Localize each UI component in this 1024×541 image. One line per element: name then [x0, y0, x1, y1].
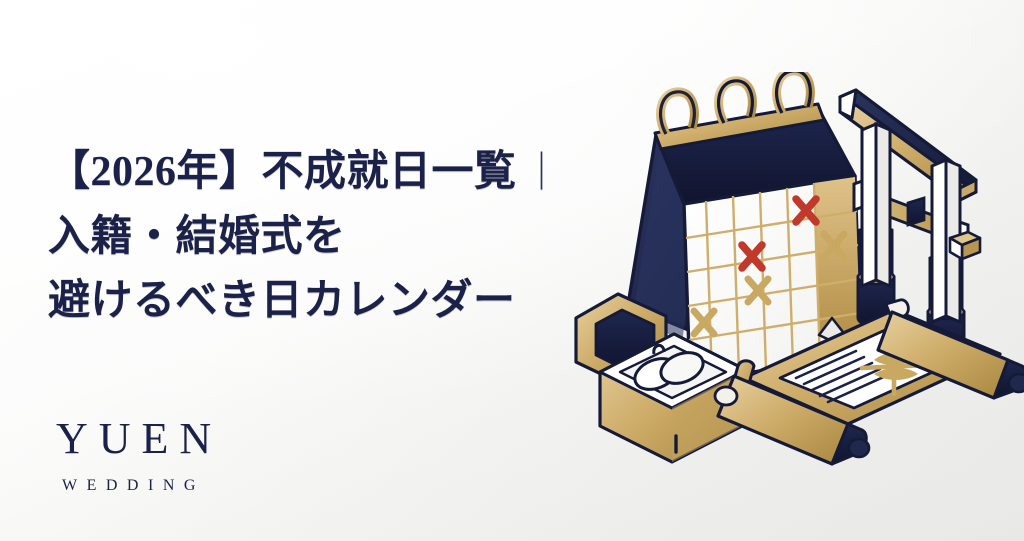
brand-logo[interactable]: YUEN WEDDING	[56, 416, 222, 496]
headline-line-3: 避けるべき日カレンダー	[48, 269, 608, 333]
scroll-left-roller-cap	[715, 387, 737, 405]
wedding-date-illustration	[556, 72, 1024, 472]
headline-line-1-text: 【2026年】不成就日一覧	[48, 149, 517, 195]
headline-line-2: 入籍・結婚式を	[48, 205, 608, 269]
torii-center-block	[908, 198, 924, 225]
scroll-left-tip-cap	[849, 439, 869, 457]
brand-tagline: WEDDING	[62, 476, 222, 496]
torii-left-pillar-shade	[876, 124, 890, 286]
headline-line-1: 【2026年】不成就日一覧｜	[48, 140, 608, 205]
headline-separator: ｜	[517, 152, 562, 194]
torii-right-pillar	[932, 160, 946, 322]
torii-top-beam-left-end	[840, 90, 856, 118]
page-title: 【2026年】不成就日一覧｜ 入籍・結婚式を 避けるべき日カレンダー	[48, 140, 608, 333]
torii-left-pillar	[862, 124, 876, 286]
scroll-right-tip-cap	[1009, 374, 1024, 392]
hero-banner: 【2026年】不成就日一覧｜ 入籍・結婚式を 避けるべき日カレンダー YUEN …	[0, 0, 1024, 541]
brand-name: YUEN	[56, 416, 222, 462]
